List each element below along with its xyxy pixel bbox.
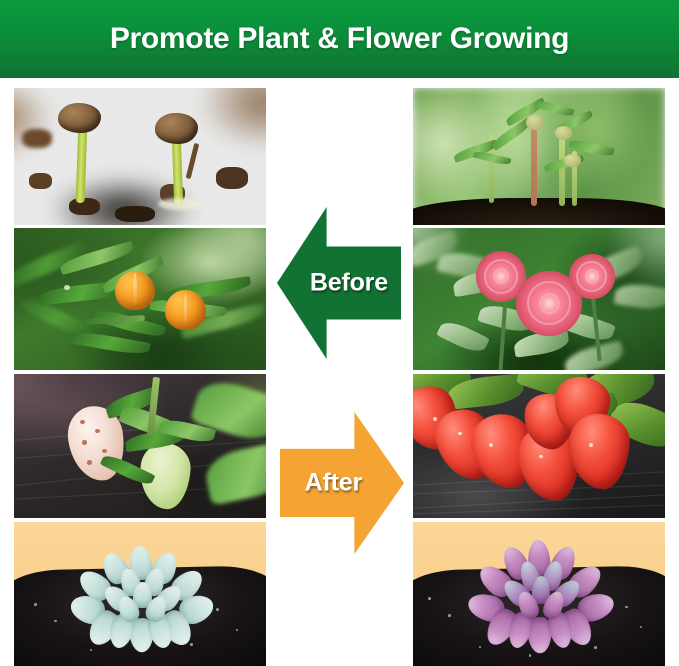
before-image-seedlings: [14, 88, 266, 225]
arrow-left-icon: [277, 207, 401, 359]
after-image-seedlings: [413, 88, 665, 225]
before-image-flower-buds: [14, 228, 266, 370]
after-image-ripe-strawberries: [413, 374, 665, 518]
header-banner: Promote Plant & Flower Growing: [0, 0, 679, 78]
after-arrow: After: [280, 412, 404, 554]
page-title: Promote Plant & Flower Growing: [110, 22, 569, 56]
after-image-roses: [413, 228, 665, 370]
before-arrow: Before: [277, 207, 401, 359]
before-image-succulent: [14, 522, 266, 666]
product-infographic: Promote Plant & Flower Growing: [0, 0, 679, 666]
before-image-unripe-strawberries: [14, 374, 266, 518]
after-image-succulent: [413, 522, 665, 666]
arrow-right-icon: [280, 412, 404, 554]
